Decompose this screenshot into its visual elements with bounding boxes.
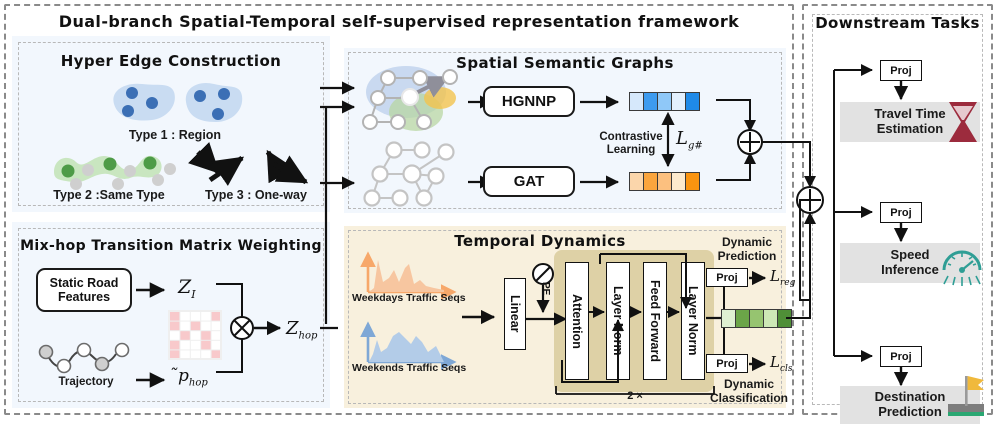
- task-2-line1: Speed: [890, 247, 929, 262]
- dyn-pred-line2: Prediction: [718, 249, 777, 263]
- trajectory-label: Trajectory: [38, 376, 134, 388]
- proj-label-3: Proj: [890, 351, 911, 363]
- proj-label-1: Proj: [890, 65, 911, 77]
- task-1-line2: Estimation: [877, 121, 943, 136]
- vector-cell: [630, 173, 644, 190]
- vector-cell: [644, 173, 658, 190]
- z-i-subscript: I: [191, 288, 195, 301]
- trajectory-to-phop-arrow: [136, 374, 176, 386]
- vector-cell: [630, 93, 644, 110]
- hgnnp-label: HGNNP: [502, 93, 556, 110]
- hgnnp-box: HGNNP: [483, 86, 575, 117]
- hypergraph-illustration: [358, 64, 470, 142]
- gat-label: GAT: [514, 173, 545, 190]
- vector-cell: [644, 93, 658, 110]
- loss-cls-subscript: cls: [780, 364, 793, 374]
- type1-region-illustration: [100, 78, 250, 128]
- vector-cell: [686, 173, 699, 190]
- weekends-traffic-chart: [356, 318, 460, 366]
- dyn-cls-line1: Dynamic: [724, 377, 774, 391]
- mix-hop-title: Mix-hop Transition Matrix Weighting: [18, 238, 324, 254]
- type2-label: Type 2 :Same Type: [34, 188, 184, 202]
- downstream-proj-travel-time: Proj: [880, 60, 922, 81]
- task-3-line1: Destination: [875, 389, 946, 404]
- spatial-fusion-wiring: [716, 92, 796, 192]
- graph-loss-symbol: Lg#: [676, 128, 703, 152]
- contrastive-double-arrow: [660, 108, 676, 174]
- hyper-edge-title: Hyper Edge Construction: [18, 52, 324, 70]
- contrastive-line2: Learning: [607, 144, 656, 156]
- task-2-line2: Inference: [881, 262, 939, 277]
- loss-cls-symbol: Lcls: [770, 353, 793, 374]
- vector-cell: [750, 310, 764, 327]
- flag-icon: [942, 372, 986, 416]
- gat-box: GAT: [483, 166, 575, 197]
- static-road-to-zi-arrow: [136, 284, 174, 296]
- downstream-proj-destination: Proj: [880, 346, 922, 367]
- transformer-residual-arrows: [556, 250, 714, 396]
- figure-root: Dual-branch Spatial-Temporal self-superv…: [0, 0, 997, 419]
- z-i-base: Z: [178, 276, 191, 298]
- loss-graph-subscript: g#: [688, 141, 703, 152]
- vector-cell: [658, 173, 672, 190]
- temporal-embedding-vector: [721, 309, 792, 328]
- proj-label-2: Proj: [890, 207, 911, 219]
- z-i-symbol: ZI: [178, 276, 196, 301]
- vector-cell: [672, 173, 686, 190]
- weekdays-label: Weekdays Traffic Seqs: [352, 292, 466, 304]
- vector-cell: [764, 310, 778, 327]
- weekdays-traffic-chart: [356, 248, 460, 296]
- downstream-panel-title: Downstream Tasks: [812, 14, 983, 32]
- static-road-line2: Features: [58, 290, 110, 304]
- framework-panel-title: Dual-branch Spatial-Temporal self-superv…: [14, 12, 784, 31]
- proj-reg-label: Proj: [716, 272, 737, 284]
- dynamic-classification-label: Dynamic Classification: [692, 378, 806, 406]
- linear-label: Linear: [508, 295, 522, 333]
- plain-graph-illustration: [358, 140, 470, 210]
- proj-box-regression: Proj: [706, 268, 748, 287]
- p-hop-base: p: [178, 366, 189, 386]
- hourglass-icon: [945, 98, 981, 146]
- proj-box-classification: Proj: [706, 354, 748, 373]
- z-hop-subscript: hop: [299, 331, 318, 342]
- dyn-pred-line1: Dynamic: [722, 235, 772, 249]
- z-hop-symbol: Zhop: [286, 318, 317, 342]
- linear-block: Linear: [504, 278, 526, 350]
- repeat-label: 2 ×: [556, 390, 714, 402]
- vector-cell: [736, 310, 750, 327]
- proj-cls-label: Proj: [716, 358, 737, 370]
- type1-label: Type 1 : Region: [100, 128, 250, 142]
- task-3-line2: Prediction: [878, 404, 942, 419]
- contrastive-learning-label: Contrastive Learning: [592, 131, 670, 157]
- traffic-to-linear-arrow: [462, 310, 506, 324]
- contrastive-line1: Contrastive: [599, 131, 662, 143]
- vector-cell: [722, 310, 736, 327]
- weekends-label: Weekends Traffic Seqs: [352, 362, 466, 374]
- zhop-feed-line: [320, 322, 340, 334]
- type3-label: Type 3 : One-way: [186, 188, 326, 202]
- loss-reg-base: L: [770, 267, 780, 285]
- static-road-line1: Static Road: [50, 276, 119, 290]
- task-1-line1: Travel Time: [874, 106, 945, 121]
- loss-graph-base: L: [676, 128, 688, 149]
- pe-label: PE: [540, 282, 551, 295]
- dyn-cls-line2: Classification: [710, 391, 788, 405]
- downstream-proj-speed: Proj: [880, 202, 922, 223]
- loss-cls-base: L: [770, 353, 780, 371]
- trajectory-illustration: [38, 342, 134, 376]
- static-road-features-box: Static Road Features: [36, 268, 132, 312]
- z-hop-base: Z: [286, 318, 299, 339]
- vector-cell: [686, 93, 699, 110]
- gat-embedding-vector: [629, 172, 700, 191]
- speedometer-icon: [940, 240, 982, 286]
